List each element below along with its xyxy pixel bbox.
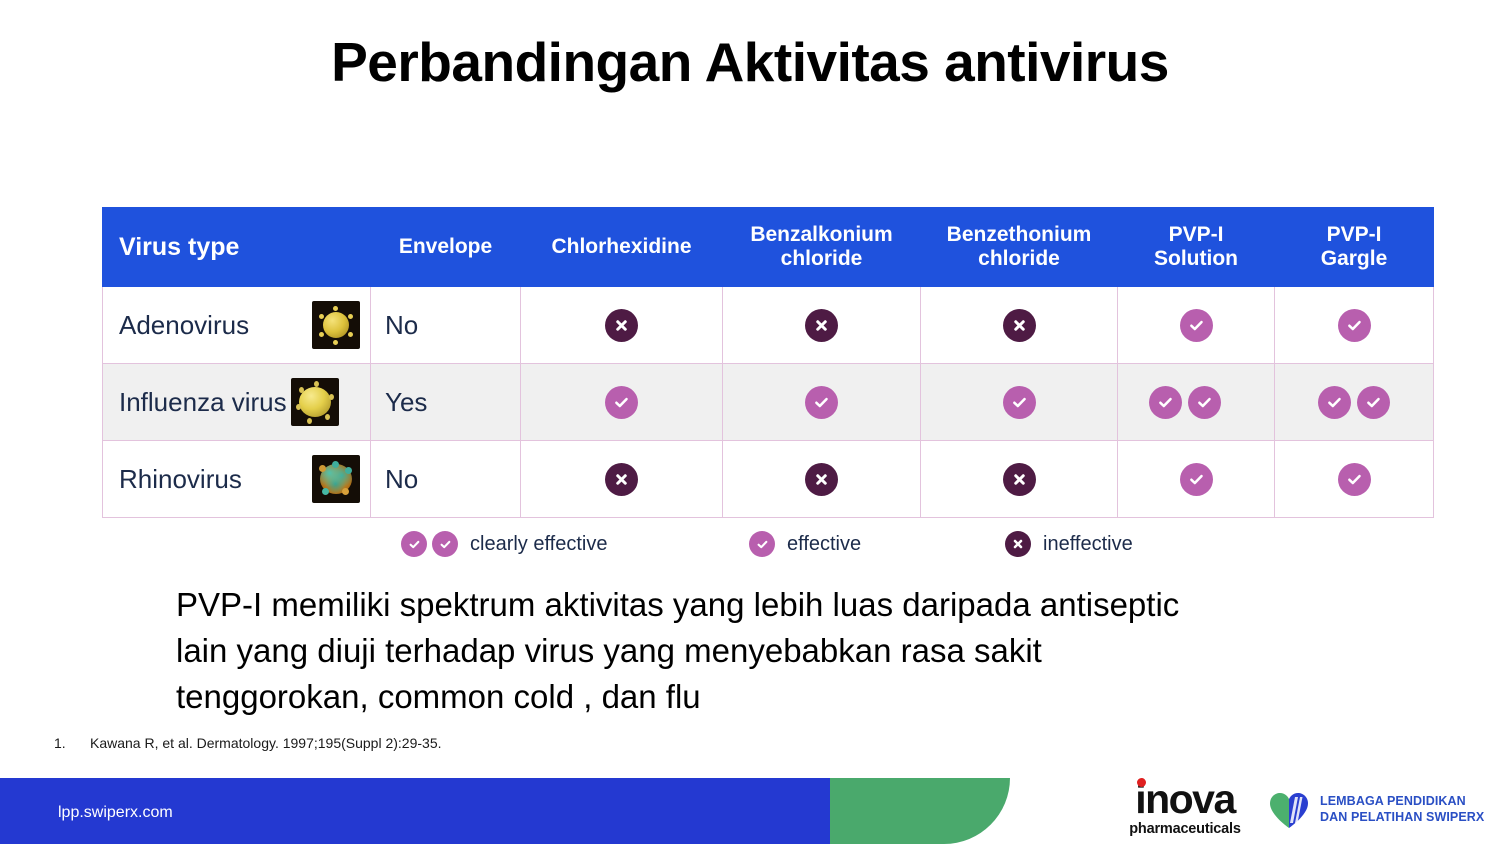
body-line-3: tenggorokan, common cold , dan flu [176, 674, 1366, 720]
legend-label: effective [787, 533, 861, 556]
column-header-label-line1: PVP-I [1327, 223, 1382, 246]
cell-pvpi-solution [1118, 287, 1275, 364]
virus-name-label: Influenza virus [119, 387, 287, 418]
double-check-icon [1275, 386, 1433, 419]
table-row: Rhinovirus No [103, 441, 1434, 518]
cell-pvpi-gargle [1275, 364, 1434, 441]
legend: clearly effective effective ineffective [102, 531, 1433, 567]
check-icon [1149, 386, 1182, 419]
body-paragraph: PVP-I memiliki spektrum aktivitas yang l… [176, 582, 1366, 720]
column-header-benzalkonium-chloride: Benzalkonium chloride [723, 208, 921, 287]
cell-pvpi-solution [1118, 364, 1275, 441]
inova-wordmark: inova [1135, 779, 1235, 820]
footer-url-label[interactable]: lpp.swiperx.com [58, 804, 173, 822]
check-icon [1338, 463, 1371, 496]
column-header-pvpi-gargle: PVP-I Gargle [1275, 208, 1434, 287]
check-icon [605, 386, 638, 419]
inova-red-dot-icon [1137, 778, 1146, 787]
table-row: Influenza virus Yes [103, 364, 1434, 441]
column-header-label: Virus type [119, 233, 239, 261]
legend-item-ineffective: ineffective [1005, 531, 1133, 557]
column-header-label: Chlorhexidine [551, 235, 691, 258]
cell-benzalkonium-chloride [723, 287, 921, 364]
cell-benzethonium-chloride [921, 287, 1118, 364]
check-icon [1003, 386, 1036, 419]
column-header-virus-type: Virus type [103, 208, 371, 287]
check-icon [1180, 463, 1213, 496]
x-icon [1003, 463, 1036, 496]
antiviral-comparison-table: Virus type Envelope Chlorhexidine Benzal… [102, 207, 1434, 518]
virus-name-label: Adenovirus [119, 310, 249, 341]
check-icon [432, 531, 458, 557]
column-header-chlorhexidine: Chlorhexidine [521, 208, 723, 287]
cell-pvpi-gargle [1275, 287, 1434, 364]
check-icon [1318, 386, 1351, 419]
footer-green-shape [830, 778, 1010, 844]
cell-pvpi-solution [1118, 441, 1275, 518]
check-icon [1188, 386, 1221, 419]
inova-name-text: inova [1135, 776, 1235, 822]
x-icon [1003, 309, 1036, 342]
legend-item-effective: effective [749, 531, 861, 557]
inova-logo: inova pharmaceuticals [1117, 779, 1253, 837]
check-icon [749, 531, 775, 557]
check-icon [1338, 309, 1371, 342]
column-header-label-line2: Gargle [1321, 247, 1388, 270]
column-header-label-line1: PVP-I [1169, 223, 1224, 246]
comparison-table-container: Virus type Envelope Chlorhexidine Benzal… [102, 207, 1433, 518]
envelope-value: No [371, 310, 520, 341]
inova-tagline: pharmaceuticals [1117, 822, 1253, 837]
citation: 1. Kawana R, et al. Dermatology. 1997;19… [54, 735, 442, 751]
body-line-1: PVP-I memiliki spektrum aktivitas yang l… [176, 582, 1366, 628]
table-header-row: Virus type Envelope Chlorhexidine Benzal… [103, 208, 1434, 287]
x-icon [805, 463, 838, 496]
x-icon [805, 309, 838, 342]
x-icon [605, 463, 638, 496]
check-icon [1357, 386, 1390, 419]
column-header-label: Envelope [399, 235, 492, 258]
cell-envelope: No [371, 287, 521, 364]
column-header-envelope: Envelope [371, 208, 521, 287]
cell-virus-type: Influenza virus [103, 364, 371, 441]
citation-number: 1. [54, 735, 90, 751]
cell-envelope: No [371, 441, 521, 518]
cell-pvpi-gargle [1275, 441, 1434, 518]
x-icon [1005, 531, 1031, 557]
adenovirus-image [312, 301, 360, 349]
heart-book-icon [1266, 790, 1312, 830]
column-header-label-line2: Solution [1154, 247, 1238, 270]
cell-envelope: Yes [371, 364, 521, 441]
cell-benzethonium-chloride [921, 364, 1118, 441]
cell-chlorhexidine [521, 441, 723, 518]
column-header-label-line1: Benzalkonium [750, 223, 892, 246]
column-header-benzethonium-chloride: Benzethonium chloride [921, 208, 1118, 287]
cell-benzalkonium-chloride [723, 364, 921, 441]
lpp-line-2: DAN PELATIHAN SWIPERX [1320, 810, 1484, 824]
legend-label: clearly effective [470, 533, 607, 556]
cell-chlorhexidine [521, 364, 723, 441]
virus-name-label: Rhinovirus [119, 464, 242, 495]
legend-label: ineffective [1043, 533, 1133, 556]
lpp-swiperx-logo: LEMBAGA PENDIDIKAN DAN PELATIHAN SWIPERX [1266, 790, 1484, 830]
cell-chlorhexidine [521, 287, 723, 364]
legend-item-clearly-effective: clearly effective [401, 531, 607, 557]
lpp-text-block: LEMBAGA PENDIDIKAN DAN PELATIHAN SWIPERX [1320, 794, 1484, 825]
cell-virus-type: Rhinovirus [103, 441, 371, 518]
check-icon [1180, 309, 1213, 342]
column-header-label-line2: chloride [978, 247, 1060, 270]
envelope-value: Yes [371, 387, 520, 418]
envelope-value: No [371, 464, 520, 495]
x-icon [605, 309, 638, 342]
table-row: Adenovirus No [103, 287, 1434, 364]
column-header-label-line1: Benzethonium [947, 223, 1092, 246]
cell-virus-type: Adenovirus [103, 287, 371, 364]
citation-text: Kawana R, et al. Dermatology. 1997;195(S… [90, 735, 442, 751]
rhinovirus-image [312, 455, 360, 503]
lpp-line-1: LEMBAGA PENDIDIKAN [1320, 794, 1466, 808]
footer: lpp.swiperx.com inova pharmaceuticals LE… [0, 778, 1500, 844]
check-icon [401, 531, 427, 557]
page-title: Perbandingan Aktivitas antivirus [0, 34, 1500, 92]
influenza-image [291, 378, 339, 426]
column-header-label-line2: chloride [781, 247, 863, 270]
cell-benzethonium-chloride [921, 441, 1118, 518]
check-icon [805, 386, 838, 419]
double-check-icon [1118, 386, 1274, 419]
cell-benzalkonium-chloride [723, 441, 921, 518]
body-line-2: lain yang diuji terhadap virus yang meny… [176, 628, 1366, 674]
column-header-pvpi-solution: PVP-I Solution [1118, 208, 1275, 287]
